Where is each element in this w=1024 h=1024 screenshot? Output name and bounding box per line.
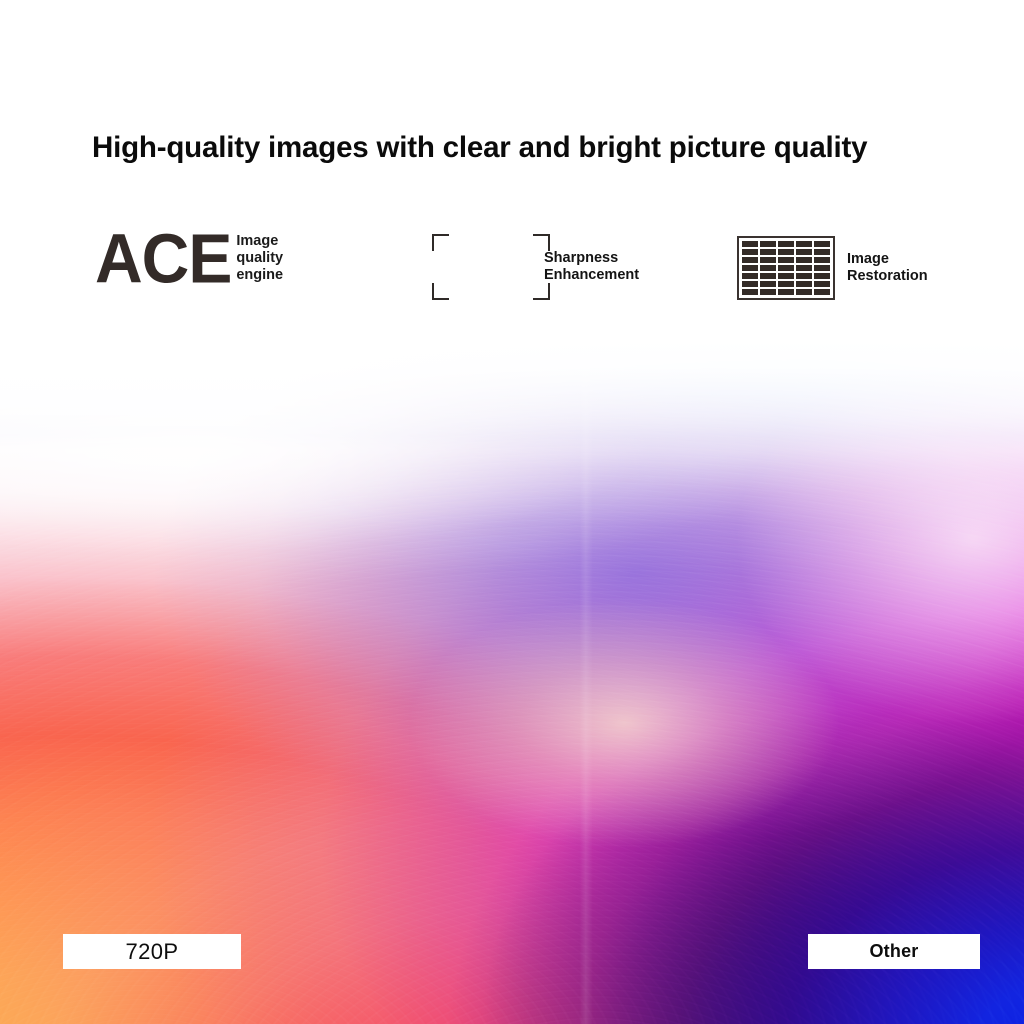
- pixel-grid-cell: [814, 281, 830, 287]
- pixel-grid-cell: [814, 249, 830, 255]
- pixel-grid-cell: [814, 265, 830, 271]
- pixel-grid-cell: [778, 289, 794, 295]
- quality-label-other: Other: [808, 934, 980, 969]
- feature-ace-caption-line-3: engine: [236, 267, 283, 284]
- pixel-grid-cell: [742, 265, 758, 271]
- feature-restoration-caption: Image Restoration: [847, 251, 928, 286]
- quality-label-720p: 720P: [63, 934, 241, 969]
- pixel-grid-cell: [760, 281, 776, 287]
- pixel-grid-cell: [760, 265, 776, 271]
- pixel-grid-cell: [760, 289, 776, 295]
- feature-ace-engine: ACE Image quality engine: [95, 228, 283, 289]
- feature-sharpness-caption-line-1: Sharpness: [544, 250, 639, 267]
- feature-ace-caption-line-2: quality: [236, 250, 283, 267]
- pixel-grid-cell: [742, 289, 758, 295]
- pixel-grid-cell: [796, 249, 812, 255]
- pixel-grid-cell: [778, 241, 794, 247]
- ace-wordmark-icon: ACE: [95, 226, 231, 290]
- pixel-grid-cell: [814, 289, 830, 295]
- pixel-grid-cell: [796, 289, 812, 295]
- pixel-grid-cell: [814, 273, 830, 279]
- pixel-grid-cell: [742, 257, 758, 263]
- pixel-grid-cell: [760, 241, 776, 247]
- focus-corners-icon: [432, 234, 550, 300]
- feature-restoration-caption-line-2: Restoration: [847, 268, 928, 285]
- page-title: High-quality images with clear and brigh…: [92, 131, 942, 164]
- feature-strip: ACE Image quality engine Sharpness Enhan…: [0, 228, 1024, 320]
- pixel-grid-cell: [796, 265, 812, 271]
- focus-corner-top-left-icon: [432, 234, 449, 251]
- pixel-grid-cell: [814, 241, 830, 247]
- pixel-grid-cell: [796, 257, 812, 263]
- feature-ace-caption: Image quality engine: [236, 233, 283, 284]
- pixel-grid-cell: [796, 281, 812, 287]
- feature-ace-caption-line-1: Image: [236, 233, 283, 250]
- pixel-grid-cell: [778, 273, 794, 279]
- pixel-grid-cell: [796, 273, 812, 279]
- pixel-grid-cell: [760, 249, 776, 255]
- pixel-grid-cell: [742, 241, 758, 247]
- pixel-grid-cell: [760, 273, 776, 279]
- feature-restoration-caption-line-1: Image: [847, 251, 928, 268]
- pixel-grid-cell: [814, 257, 830, 263]
- pixel-grid-cell: [796, 241, 812, 247]
- pixel-grid-cell: [760, 257, 776, 263]
- focus-corner-top-right-icon: [533, 234, 550, 251]
- feature-sharpness-caption: Sharpness Enhancement: [544, 250, 639, 285]
- pixel-grid-cell: [778, 281, 794, 287]
- pixel-grid-icon: [737, 236, 835, 300]
- pixel-grid-cell: [742, 273, 758, 279]
- pixel-grid-cell: [778, 265, 794, 271]
- promo-page: High-quality images with clear and brigh…: [0, 0, 1024, 1024]
- gradient-comparison-artwork: [0, 340, 1024, 1024]
- feature-sharpness-enhancement: Sharpness Enhancement: [432, 234, 639, 300]
- pixel-grid-cell: [742, 249, 758, 255]
- pixel-grid-cell: [778, 249, 794, 255]
- pixel-grid-cell: [742, 281, 758, 287]
- feature-image-restoration: Image Restoration: [737, 236, 928, 300]
- focus-corner-bottom-left-icon: [432, 283, 449, 300]
- feature-sharpness-caption-line-2: Enhancement: [544, 267, 639, 284]
- focus-corner-bottom-right-icon: [533, 283, 550, 300]
- pixel-grid-cell: [778, 257, 794, 263]
- gradient-layer-top-fade: [0, 340, 1024, 1024]
